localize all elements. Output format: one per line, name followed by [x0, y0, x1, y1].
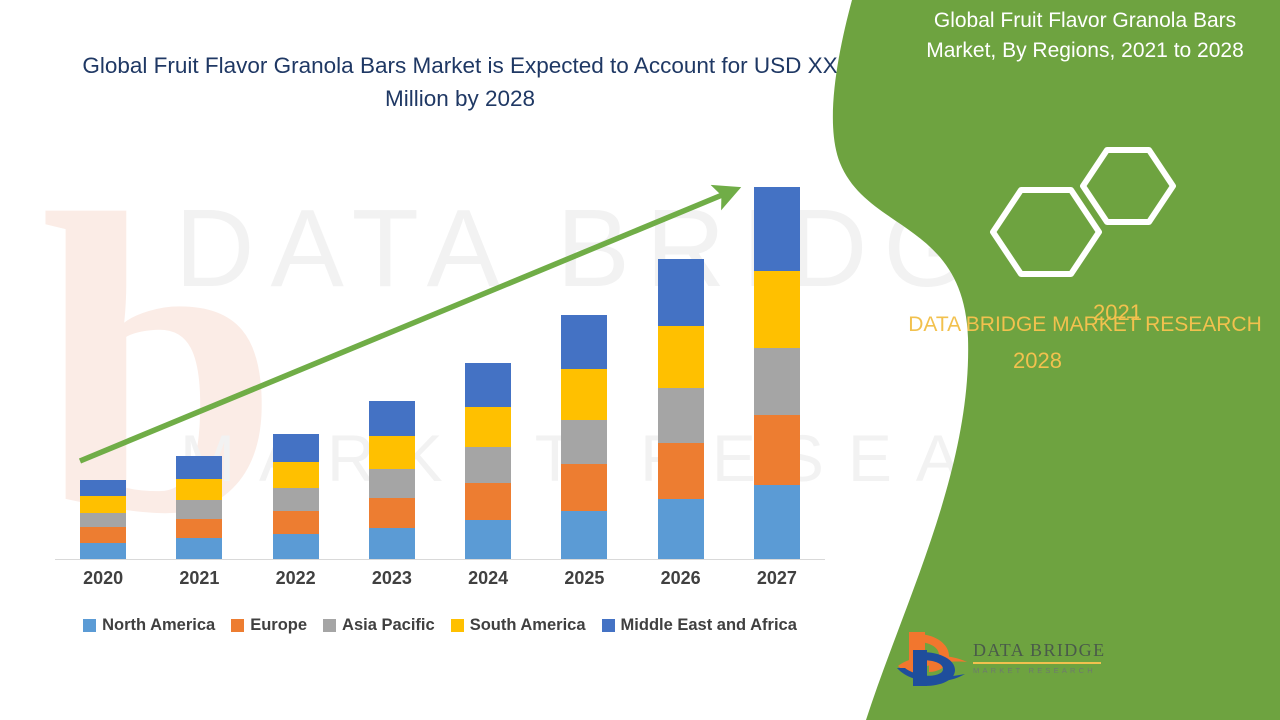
bar-segment	[658, 388, 704, 443]
legend-swatch-icon	[83, 619, 96, 632]
bar-segment	[80, 543, 126, 559]
bar-segment	[273, 511, 319, 535]
legend-swatch-icon	[602, 619, 615, 632]
bar-segment	[80, 496, 126, 512]
bar-segment	[658, 443, 704, 500]
bar-column	[658, 259, 704, 559]
bar-segment	[465, 407, 511, 447]
bar-segment	[369, 528, 415, 559]
bar-column	[369, 401, 415, 559]
panel-brand-text: DATA BRIDGE MARKET RESEARCH	[900, 310, 1270, 340]
bar-segment	[561, 369, 607, 419]
legend-label: Asia Pacific	[342, 616, 435, 635]
legend-item[interactable]: Middle East and Africa	[602, 616, 797, 635]
logo-main-text: DATA BRIDGE	[973, 640, 1103, 661]
bar-segment	[80, 513, 126, 527]
x-axis-tick-label: 2022	[251, 568, 341, 589]
panel-title: Global Fruit Flavor Granola Bars Market,…	[900, 6, 1270, 67]
x-axis-labels: 20202021202220232024202520262027	[55, 568, 825, 596]
x-axis-tick-label: 2020	[58, 568, 148, 589]
legend-label: South America	[470, 616, 586, 635]
bar-segment	[176, 456, 222, 479]
bar-segment	[176, 500, 222, 519]
legend-label: Europe	[250, 616, 307, 635]
bar-segment	[658, 499, 704, 559]
bar-segment	[754, 485, 800, 559]
bar-segment	[754, 271, 800, 348]
hexagon-outlines	[985, 128, 1185, 288]
bar-segment	[754, 415, 800, 485]
logo-divider	[973, 662, 1101, 664]
bar-column	[176, 456, 222, 559]
bar-column	[80, 480, 126, 559]
bar-segment	[561, 420, 607, 464]
bar-segment	[658, 259, 704, 326]
stacked-bars	[55, 160, 825, 560]
bar-segment	[465, 520, 511, 559]
bar-segment	[176, 479, 222, 501]
x-axis-tick-label: 2025	[539, 568, 629, 589]
bar-column	[561, 315, 607, 559]
bar-segment	[273, 462, 319, 488]
bar-segment	[273, 534, 319, 559]
bar-segment	[465, 483, 511, 520]
x-axis-tick-label: 2024	[443, 568, 533, 589]
hexagon-badges: 2021 2028	[985, 128, 1185, 288]
bar-segment	[465, 363, 511, 406]
bar-column	[465, 363, 511, 559]
bar-segment	[273, 434, 319, 462]
x-axis-tick-label: 2021	[154, 568, 244, 589]
hexagon-shape-2021	[1083, 150, 1173, 222]
bar-column	[273, 434, 319, 559]
chart-legend: North AmericaEuropeAsia PacificSouth Ame…	[45, 616, 835, 635]
legend-item[interactable]: Europe	[231, 616, 307, 635]
bar-segment	[561, 511, 607, 559]
legend-label: North America	[102, 616, 215, 635]
panel-content: Global Fruit Flavor Granola Bars Market,…	[890, 0, 1280, 720]
bar-segment	[369, 469, 415, 498]
bar-segment	[176, 538, 222, 559]
logo-text: DATA BRIDGE MARKET RESEARCH	[973, 640, 1103, 675]
legend-swatch-icon	[451, 619, 464, 632]
bar-segment	[369, 401, 415, 436]
bar-segment	[561, 315, 607, 370]
bar-segment	[176, 519, 222, 539]
bar-segment	[80, 480, 126, 496]
bar-segment	[273, 488, 319, 511]
bar-segment	[561, 464, 607, 510]
infographic-slide: b DATA BRIDGE MARKET RESEARCH Global Fru…	[0, 0, 1280, 720]
hexagon-shape-2028	[993, 190, 1099, 274]
bar-segment	[754, 348, 800, 415]
logo-mark-icon	[895, 628, 973, 690]
hexagon-label-2028: 2028	[1013, 348, 1062, 374]
x-axis-tick-label: 2023	[347, 568, 437, 589]
logo-sub-text: MARKET RESEARCH	[973, 666, 1103, 675]
legend-swatch-icon	[323, 619, 336, 632]
bar-segment	[754, 187, 800, 270]
legend-swatch-icon	[231, 619, 244, 632]
x-axis-tick-label: 2027	[732, 568, 822, 589]
legend-item[interactable]: North America	[83, 616, 215, 635]
chart-title: Global Fruit Flavor Granola Bars Market …	[60, 50, 860, 115]
bar-segment	[369, 498, 415, 528]
data-bridge-logo: DATA BRIDGE MARKET RESEARCH	[895, 628, 1105, 698]
legend-label: Middle East and Africa	[621, 616, 797, 635]
legend-item[interactable]: South America	[451, 616, 586, 635]
bar-segment	[80, 527, 126, 542]
bar-segment	[658, 326, 704, 388]
x-axis-tick-label: 2026	[636, 568, 726, 589]
bar-segment	[465, 447, 511, 483]
legend-item[interactable]: Asia Pacific	[323, 616, 435, 635]
bar-segment	[369, 436, 415, 469]
bar-column	[754, 187, 800, 559]
chart-plot-area	[55, 160, 825, 560]
